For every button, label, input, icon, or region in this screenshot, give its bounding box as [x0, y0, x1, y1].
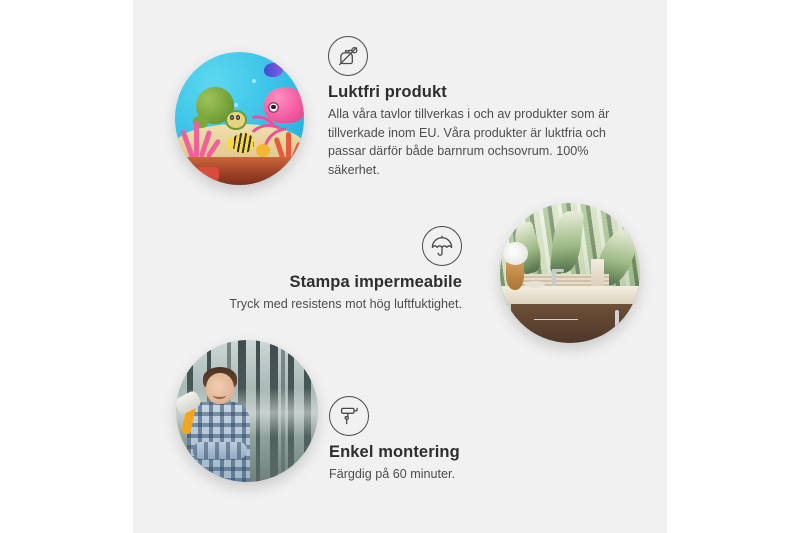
- countertop: [500, 286, 640, 304]
- feature-title: Luktfri produkt: [328, 83, 624, 102]
- faucet: [552, 269, 556, 286]
- bathroom-scene: [500, 203, 640, 343]
- feature-title: Enkel montering: [329, 443, 579, 462]
- pink-coral: [181, 119, 220, 159]
- feature-waterproof: Stampa impermeabile Tryck med resistens …: [196, 226, 462, 314]
- person-head: [206, 373, 234, 404]
- feature-assembly: Enkel montering Färgdig på 60 minuter.: [329, 396, 579, 484]
- feature-odourless: Luktfri produkt Alla våra tavlor tillver…: [328, 36, 624, 179]
- striped-fish: [232, 133, 254, 153]
- photo-bathroom: [500, 203, 640, 343]
- no-fragrance-icon: [328, 36, 368, 76]
- flowers: [503, 242, 528, 264]
- feature-description: Tryck med resistens mot hög luftfuktighe…: [196, 295, 462, 314]
- sea-floor-band: [175, 157, 304, 185]
- photo-forest: [176, 340, 318, 482]
- octopus-eye: [268, 102, 279, 113]
- paint-roller-icon: [329, 396, 369, 436]
- bottle: [591, 259, 604, 286]
- feature-description: Alla våra tavlor tillverkas i och av pro…: [328, 105, 624, 179]
- octopus-head: [264, 87, 304, 123]
- product-info-banner: Luktfri produkt Alla våra tavlor tillver…: [0, 0, 800, 533]
- person-smile: [213, 391, 226, 399]
- forest-scene: [176, 340, 318, 482]
- underwater-scene: [175, 52, 304, 185]
- photo-underwater: [175, 52, 304, 185]
- feature-description: Färgdig på 60 minuter.: [329, 465, 579, 484]
- feature-title: Stampa impermeabile: [196, 273, 462, 292]
- vanity-cabinet: [511, 304, 640, 343]
- person-arm: [193, 442, 247, 459]
- umbrella-icon: [422, 226, 462, 266]
- orange-coral: [273, 130, 301, 159]
